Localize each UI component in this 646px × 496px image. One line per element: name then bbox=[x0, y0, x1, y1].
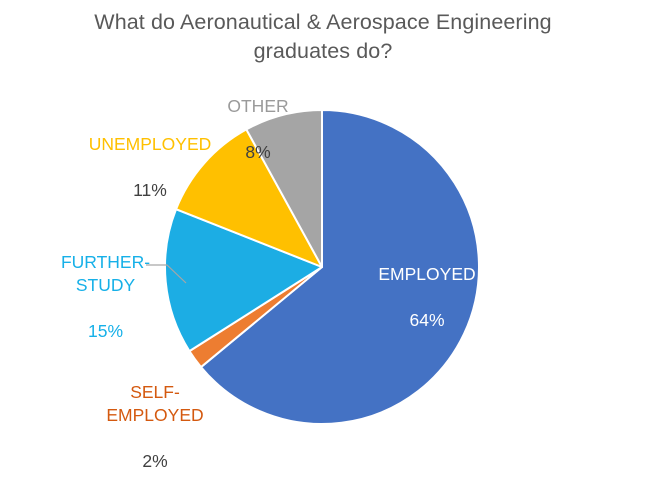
data-label-unemployed-value: 11% bbox=[60, 179, 240, 202]
pie-chart: What do Aeronautical & Aerospace Enginee… bbox=[0, 0, 646, 463]
data-label-further-study-category: FURTHER- STUDY bbox=[43, 251, 168, 297]
data-label-self-employed: SELF- EMPLOYED 2% bbox=[90, 358, 220, 496]
data-label-unemployed-category: UNEMPLOYED bbox=[60, 133, 240, 156]
data-label-further-study-value: 15% bbox=[43, 320, 168, 343]
data-label-employed-value: 64% bbox=[362, 309, 492, 332]
data-label-further-study: FURTHER- STUDY 15% bbox=[43, 228, 168, 366]
data-label-employed: EMPLOYED 64% bbox=[362, 240, 492, 355]
data-label-employed-category: EMPLOYED bbox=[362, 263, 492, 286]
data-label-self-employed-value: 2% bbox=[90, 450, 220, 473]
data-label-self-employed-category: SELF- EMPLOYED bbox=[90, 381, 220, 427]
data-label-unemployed: UNEMPLOYED 11% bbox=[60, 110, 240, 225]
